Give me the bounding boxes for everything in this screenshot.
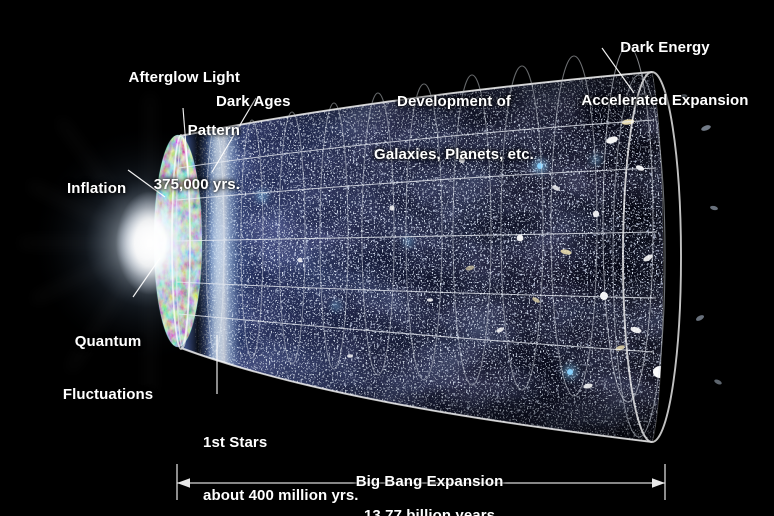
big-bang-expansion-text: Big Bang Expansion [356, 473, 504, 490]
quantum-line-1: Quantum [48, 333, 168, 351]
dark-energy-line-2: Accelerated Expansion [555, 92, 774, 110]
first-stars-line-1: 1st Stars [203, 434, 359, 452]
afterglow-line-2: Pattern [40, 122, 240, 140]
timeline-duration-label: 13.77 billion years [221, 489, 621, 516]
universe-timeline-figure: Afterglow Light Pattern 375,000 yrs. Dar… [0, 0, 774, 516]
inflation-line-1: Inflation [67, 180, 126, 198]
label-development-of-galaxies: Development of Galaxies, Planets, etc. [344, 58, 564, 200]
afterglow-line-1: Afterglow Light [40, 69, 240, 87]
duration-text: 13.77 billion years [364, 507, 495, 516]
development-line-2: Galaxies, Planets, etc. [344, 146, 564, 164]
development-line-1: Development of [344, 93, 564, 111]
label-dark-ages: Dark Ages [216, 58, 291, 146]
dark-energy-line-1: Dark Energy [555, 39, 774, 57]
dark-ages-line-1: Dark Ages [216, 93, 291, 111]
label-inflation: Inflation [67, 145, 126, 233]
label-quantum-fluctuations: Quantum Fluctuations [48, 298, 168, 440]
label-dark-energy: Dark Energy Accelerated Expansion [555, 4, 774, 146]
quantum-line-2: Fluctuations [48, 386, 168, 404]
